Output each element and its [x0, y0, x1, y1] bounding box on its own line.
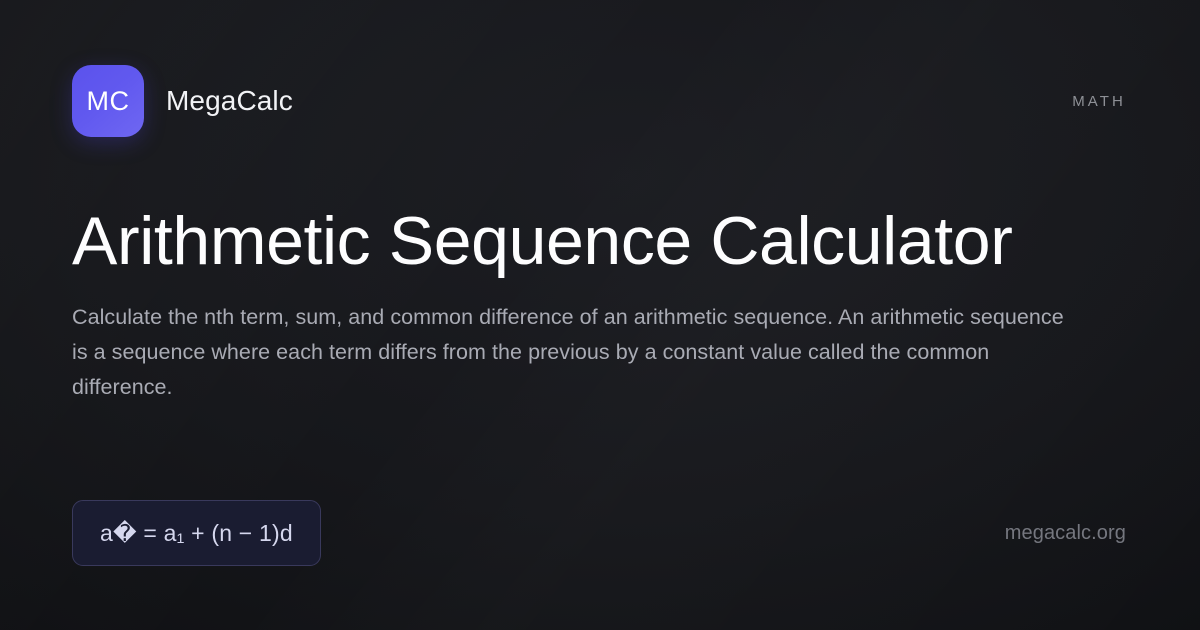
site-url: megacalc.org: [1005, 523, 1126, 543]
hero-card: MC MegaCalc MATH Arithmetic Sequence Cal…: [0, 0, 1200, 630]
page-description: Calculate the nth term, sum, and common …: [72, 300, 1082, 405]
brand-name: MegaCalc: [166, 87, 293, 115]
hero-footer: a� = a₁ + (n − 1)d megacalc.org: [72, 500, 1126, 566]
logo-initials: MC: [87, 88, 130, 115]
hero-main: Arithmetic Sequence Calculator Calculate…: [72, 205, 1126, 405]
formula-badge: a� = a₁ + (n − 1)d: [72, 500, 321, 566]
category-badge: MATH: [1072, 94, 1126, 109]
formula-text: a� = a₁ + (n − 1)d: [100, 522, 293, 545]
page-title: Arithmetic Sequence Calculator: [72, 205, 1126, 278]
site-header: MC MegaCalc MATH: [72, 62, 1126, 140]
megacalc-logo-icon: MC: [72, 65, 144, 137]
brand-block[interactable]: MC MegaCalc: [72, 65, 293, 137]
